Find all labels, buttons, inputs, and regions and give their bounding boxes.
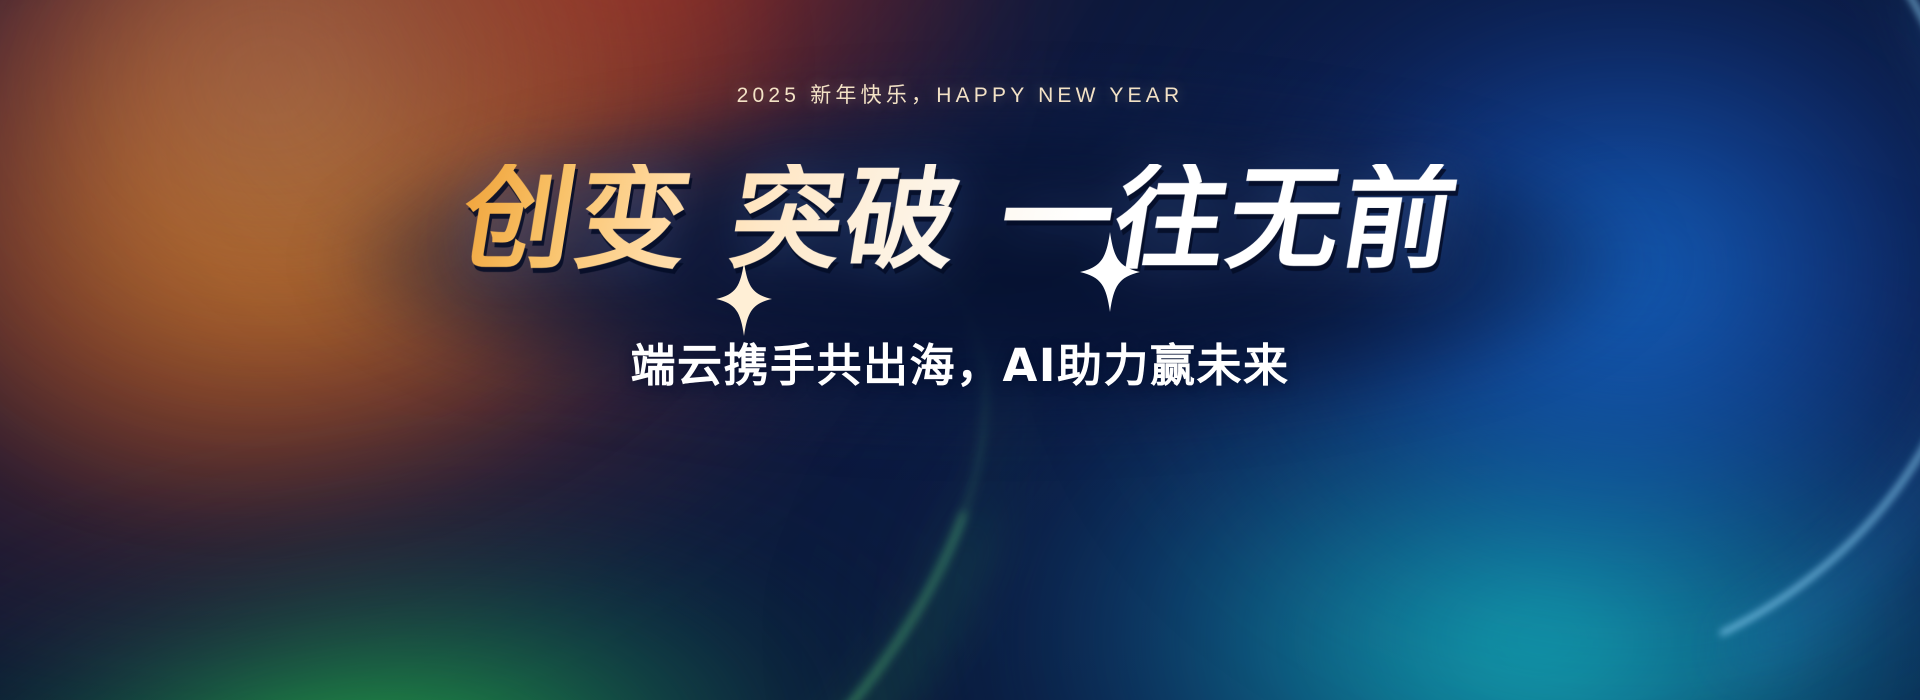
- tagline-text: 2025 新年快乐，HAPPY NEW YEAR: [737, 79, 1184, 109]
- banner-content: 2025 新年快乐，HAPPY NEW YEAR 创变 突破 一往无前 端云携手…: [0, 0, 1920, 700]
- headline-container: 创变 突破 一往无前: [463, 155, 1457, 285]
- headline-text: 创变 突破 一往无前: [454, 164, 1466, 276]
- subtitle-text: 端云携手共出海，AI助力赢未来: [630, 329, 1289, 394]
- new-year-banner: 2025 新年快乐，HAPPY NEW YEAR 创变 突破 一往无前 端云携手…: [0, 0, 1920, 700]
